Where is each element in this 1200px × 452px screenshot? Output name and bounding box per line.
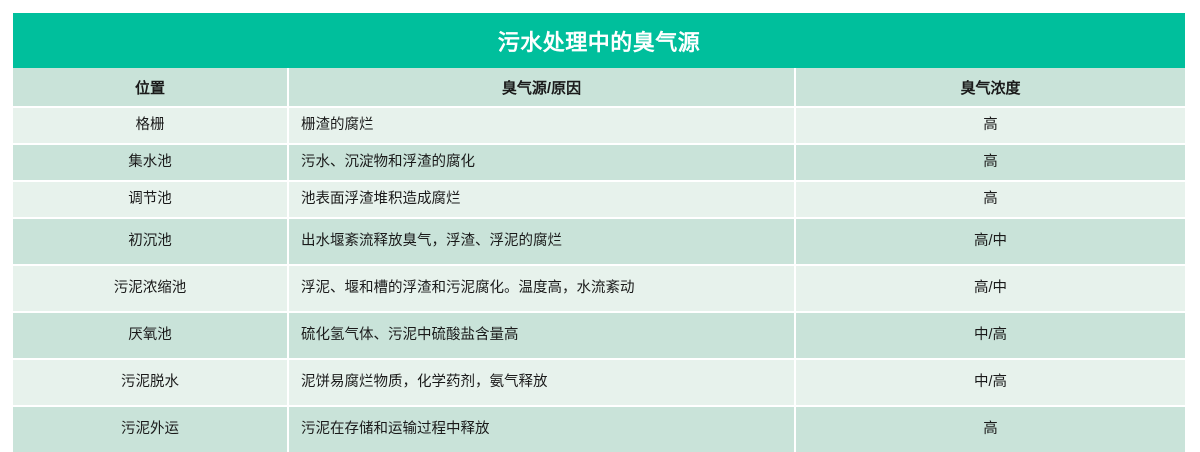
cell-level: 中/高 <box>795 312 1185 359</box>
table-header: 污水处理中的臭气源 位置 臭气源/原因 臭气浓度 <box>13 13 1185 107</box>
cell-level: 中/高 <box>795 359 1185 406</box>
cell-location: 集水池 <box>13 144 288 181</box>
odor-source-table: 污水处理中的臭气源 位置 臭气源/原因 臭气浓度 格栅 栅渣的腐烂 高 集水池 … <box>13 13 1185 452</box>
cell-location: 污泥脱水 <box>13 359 288 406</box>
cell-source: 栅渣的腐烂 <box>288 107 795 144</box>
cell-location: 格栅 <box>13 107 288 144</box>
table-row: 格栅 栅渣的腐烂 高 <box>13 107 1185 144</box>
table-row: 污泥脱水 泥饼易腐烂物质，化学药剂，氨气释放 中/高 <box>13 359 1185 406</box>
cell-source: 硫化氢气体、污泥中硫酸盐含量高 <box>288 312 795 359</box>
cell-location: 污泥浓缩池 <box>13 265 288 312</box>
cell-level: 高 <box>795 181 1185 218</box>
cell-source: 浮泥、堰和槽的浮渣和污泥腐化。温度高，水流紊动 <box>288 265 795 312</box>
table-row: 初沉池 出水堰紊流释放臭气，浮渣、浮泥的腐烂 高/中 <box>13 218 1185 265</box>
table-title: 污水处理中的臭气源 <box>13 13 1185 68</box>
column-header-source[interactable]: 臭气源/原因 <box>288 68 795 107</box>
cell-location: 初沉池 <box>13 218 288 265</box>
cell-location: 调节池 <box>13 181 288 218</box>
cell-source: 污水、沉淀物和浮渣的腐化 <box>288 144 795 181</box>
cell-source: 泥饼易腐烂物质，化学药剂，氨气释放 <box>288 359 795 406</box>
cell-source: 出水堰紊流释放臭气，浮渣、浮泥的腐烂 <box>288 218 795 265</box>
table-row: 污泥外运 污泥在存储和运输过程中释放 高 <box>13 406 1185 452</box>
cell-level: 高 <box>795 107 1185 144</box>
table-row: 集水池 污水、沉淀物和浮渣的腐化 高 <box>13 144 1185 181</box>
table-body: 格栅 栅渣的腐烂 高 集水池 污水、沉淀物和浮渣的腐化 高 调节池 池表面浮渣堆… <box>13 107 1185 452</box>
cell-source: 池表面浮渣堆积造成腐烂 <box>288 181 795 218</box>
column-header-row: 位置 臭气源/原因 臭气浓度 <box>13 68 1185 107</box>
cell-level: 高/中 <box>795 218 1185 265</box>
cell-level: 高 <box>795 144 1185 181</box>
cell-level: 高 <box>795 406 1185 452</box>
cell-location: 厌氧池 <box>13 312 288 359</box>
cell-location: 污泥外运 <box>13 406 288 452</box>
table-row: 厌氧池 硫化氢气体、污泥中硫酸盐含量高 中/高 <box>13 312 1185 359</box>
table-title-row: 污水处理中的臭气源 <box>13 13 1185 68</box>
cell-level: 高/中 <box>795 265 1185 312</box>
column-header-level[interactable]: 臭气浓度 <box>795 68 1185 107</box>
column-header-location[interactable]: 位置 <box>13 68 288 107</box>
cell-source: 污泥在存储和运输过程中释放 <box>288 406 795 452</box>
table-row: 调节池 池表面浮渣堆积造成腐烂 高 <box>13 181 1185 218</box>
odor-source-table-container: 污水处理中的臭气源 位置 臭气源/原因 臭气浓度 格栅 栅渣的腐烂 高 集水池 … <box>13 13 1185 452</box>
table-row: 污泥浓缩池 浮泥、堰和槽的浮渣和污泥腐化。温度高，水流紊动 高/中 <box>13 265 1185 312</box>
